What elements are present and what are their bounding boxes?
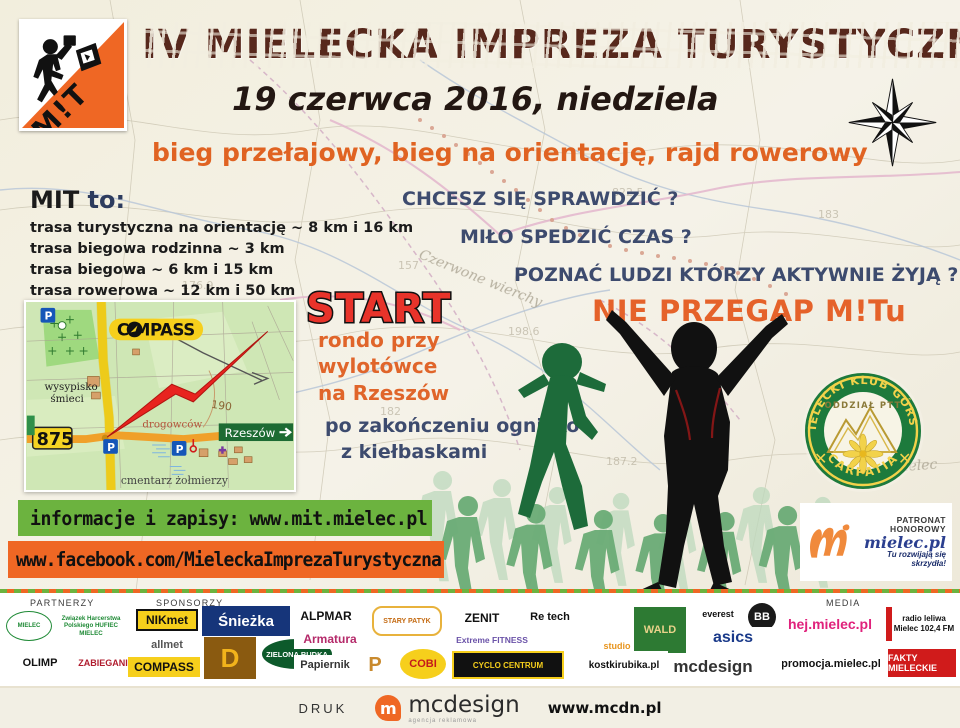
sponsor-strip: PARTNERZY SPONSORZY MEDIA MIELEC Związek… [0, 589, 960, 688]
sponsor-logo-wald[interactable]: WALD [634, 607, 686, 653]
mcdesign-subtitle: agencja reklamowa [408, 718, 519, 724]
mit-to-heading-2: to: [88, 186, 126, 214]
svg-text:cmentarz żołmierzy: cmentarz żołmierzy [121, 474, 229, 487]
mit-to-heading-1: MIT [30, 186, 79, 214]
list-item: trasa biegowa ~ 6 km i 15 km [30, 260, 400, 281]
sponsor-logo-compass[interactable]: COMPASS [128, 657, 200, 677]
label-media: MEDIA [826, 598, 861, 608]
sponsor-logo-text: CYCLO CENTRUM [473, 661, 543, 670]
question-1: CHCESZ SIĘ SPRAWDZIĆ ? [402, 188, 952, 210]
svg-text:875: 875 [37, 430, 74, 450]
sponsor-logo-cyclo-centrum[interactable]: CYCLO CENTRUM [452, 651, 564, 679]
sponsor-logo-everest[interactable]: everest [692, 605, 744, 623]
sponsor-logo-text: Papiernik [300, 659, 350, 671]
mielec-slogan: Tu rozwijają się skrzydła! [852, 551, 946, 568]
club-badge: MIELECKI KLUB GÓRSKI CARPATIA ODDZIAŁ PT… [800, 368, 926, 494]
media-logo-text: hej.mielec.pl [788, 616, 872, 632]
sponsor-logo-asics[interactable]: asics [694, 627, 772, 649]
sponsor-logo-kostki-rubika[interactable]: kostkirubika.pl [580, 651, 668, 679]
facebook-url-text: www.facebook.com/MieleckaImprezaTurystyc… [16, 548, 441, 571]
sponsor-logo-text: kostkirubika.pl [589, 660, 660, 671]
questions-block: CHCESZ SIĘ SPRAWDZIĆ ? MIŁO SPEDZIĆ CZAS… [402, 188, 952, 302]
sponsor-logo-zenit[interactable]: ZENIT [448, 607, 516, 629]
sponsor-logo-p[interactable]: P [358, 651, 392, 679]
sponsor-logo-extreme-fitness[interactable]: Extreme FITNESS [452, 629, 532, 651]
page-title: IV MIELECKA IMPREZA TURYSTYCZNA [142, 22, 942, 68]
question-2: MIŁO SPEDZIĆ CZAS ? [460, 226, 952, 248]
mcdesign-brand: mcdesign [408, 692, 519, 718]
label-partnerzy: PARTNERZY [30, 598, 94, 608]
sponsor-logo-gmina-mielec[interactable]: MIELEC [6, 611, 52, 641]
info-bar-text: informacje i zapisy: www.mit.mielec.pl [30, 507, 427, 530]
media-logo-promocja-mielec[interactable]: promocja.mielec.pl [782, 653, 880, 675]
sponsor-logo-text: ALPMAR [300, 609, 351, 623]
sponsor-logo-borowiolski[interactable]: D [204, 637, 256, 679]
sponsor-logo-text: asics [713, 629, 753, 647]
sponsor-logo-text: mcdesign [673, 657, 752, 677]
compass-rose-icon [845, 75, 940, 170]
page-title-text: IV MIELECKA IMPREZA TURYSTYCZNA [142, 22, 960, 68]
svg-text:drogowców: drogowców [142, 418, 202, 430]
sponsor-logo-mcdesign[interactable]: mcdesign [660, 655, 766, 679]
sponsor-logo-text: ZENIT [465, 611, 500, 625]
media-logo-radio-leliwa[interactable]: radio leliwa Mielec 102,4 FM [886, 607, 956, 641]
event-date: 19 czerwca 2016, niedziela [232, 80, 719, 118]
sponsor-logo-text: Śnieżka [218, 613, 274, 630]
svg-text:M!T: M!T [25, 77, 95, 128]
sponsor-logo-text: Extreme FITNESS [456, 635, 528, 645]
list-item: trasa biegowa rodzinna ~ 3 km [30, 239, 400, 260]
svg-text:✕: ✕ [898, 449, 911, 468]
sponsor-logo-text: P [368, 654, 381, 677]
sponsor-logo-text: OLIMP [23, 657, 58, 669]
sponsor-logo-text: D [221, 643, 240, 674]
media-logo-fakty-mieleckie[interactable]: FAKTY MIELECKIE [888, 649, 956, 677]
sponsor-logo-text: everest [702, 609, 734, 619]
sponsor-logo-text: MIELEC [18, 623, 41, 629]
sponsor-logo-zabiegani[interactable]: ZABIEGANI [74, 651, 132, 675]
mit-logo-graphic: M!T [22, 22, 124, 128]
route-text: biegowa ~ 6 km i 15 km [77, 262, 273, 278]
svg-text:śmieci: śmieci [50, 393, 84, 405]
route-text: rowerowa ~ 12 km i 50 km [77, 283, 295, 299]
route-text: turystyczna na orientację ~ 8 km i 16 km [77, 220, 413, 236]
route-lead: trasa [30, 262, 72, 278]
route-text: biegowa rodzinna ~ 3 km [77, 241, 284, 257]
media-logo-text: radio leliwa Mielec 102,4 FM [892, 614, 956, 633]
map-inset[interactable]: 190 P P P wysypisko śmieci drogowców cme… [24, 300, 296, 492]
svg-text:✕: ✕ [814, 449, 827, 468]
svg-text:P: P [176, 443, 184, 456]
sponsor-logo-zhp[interactable]: Związek Harcerstwa Polskiego HUFIEC MIEL… [54, 609, 128, 643]
mcdn-url[interactable]: www.mcdn.pl [548, 699, 662, 717]
mit-logo: M!T [19, 19, 127, 131]
media-logo-text: promocja.mielec.pl [782, 658, 880, 670]
sponsor-logo-olimp[interactable]: OLIMP [8, 649, 72, 677]
svg-text:wysypisko: wysypisko [44, 381, 97, 393]
mielec-brand: mielec.pl [852, 534, 946, 551]
sponsor-logo-text: ZABIEGANI [78, 658, 128, 668]
info-bar-website[interactable]: informacje i zapisy: www.mit.mielec.pl [18, 500, 432, 536]
druk-label: DRUK [298, 701, 347, 716]
route-lead: trasa [30, 283, 72, 299]
list-item: trasa turystyczna na orientację ~ 8 km i… [30, 218, 400, 239]
route-lead: trasa [30, 241, 72, 257]
question-3: POZNAĆ LUDZI KTÓRZY AKTYWNIE ŻYJĄ ? [514, 264, 952, 286]
patronat-text: PATRONAT HONOROWY mielec.pl Tu rozwijają… [852, 516, 946, 569]
svg-text:P: P [107, 441, 115, 454]
sponsor-logo-text: Re tech [530, 611, 570, 623]
sponsor-logo-text: COBI [409, 658, 437, 670]
sponsor-logo-text: Armatura [303, 632, 356, 646]
media-logo-hej-mielec[interactable]: hej.mielec.pl [782, 609, 878, 639]
sponsor-logo-armatura[interactable]: Armatura [294, 629, 366, 649]
sponsor-logo-d-studio[interactable]: studio [596, 609, 638, 651]
sponsor-logo-text: allmet [151, 639, 183, 651]
sponsor-logo-text: STARY PATYK [383, 618, 430, 625]
sponsor-logo-allmet[interactable]: allmet [136, 635, 198, 655]
mcdesign-m-icon: m [375, 695, 401, 721]
media-logo-text: FAKTY MIELECKIE [888, 653, 956, 673]
sponsor-logo-sniezka[interactable]: Śnieżka [202, 606, 290, 636]
svg-text:Rzeszów: Rzeszów [225, 426, 276, 440]
sponsor-logo-text: Związek Harcerstwa Polskiego HUFIEC MIEL… [54, 615, 128, 636]
svg-text:P: P [44, 310, 52, 323]
route-lead: trasa [30, 220, 72, 236]
patronat-box: PATRONAT HONOROWY mielec.pl Tu rozwijają… [800, 503, 952, 581]
mcdesign-logo[interactable]: m mcdesign agencja reklamowa [375, 692, 519, 724]
sponsor-logo-text: NIKmet [146, 613, 188, 627]
decorative-dot-row [0, 589, 960, 593]
sponsor-logo-text: studio [604, 641, 631, 651]
sponsor-logo-stary-patyk[interactable]: STARY PATYK [372, 606, 442, 636]
poster-root: 183 822.5 198.6 176.9 187.2 182 157 Czer… [0, 0, 960, 728]
sponsor-logo-cobi[interactable]: COBI [400, 649, 446, 679]
info-bar-facebook[interactable]: www.facebook.com/MieleckaImprezaTurystyc… [8, 541, 444, 578]
sponsor-logo-text: BB [754, 611, 770, 623]
mit-to-heading: MIT to: [30, 186, 400, 214]
mielec-m-icon [806, 519, 852, 565]
print-credit-strip: DRUK m mcdesign agencja reklamowa www.mc… [0, 688, 960, 728]
sponsor-logo-rectech[interactable]: Re tech [518, 607, 582, 627]
sponsor-logo-nikmet[interactable]: NIKmet [136, 609, 198, 631]
badge-inner-text: ODDZIAŁ PTT [824, 400, 901, 410]
sponsor-logo-alpmar[interactable]: ALPMAR [294, 607, 358, 625]
sponsor-logo-papiernik[interactable]: Papiernik [294, 655, 356, 675]
sponsor-logo-text: WALD [644, 624, 676, 636]
sponsor-logo-text: COMPASS [134, 660, 194, 674]
event-disciplines: bieg przełajowy, bieg na orientację, raj… [152, 138, 868, 167]
